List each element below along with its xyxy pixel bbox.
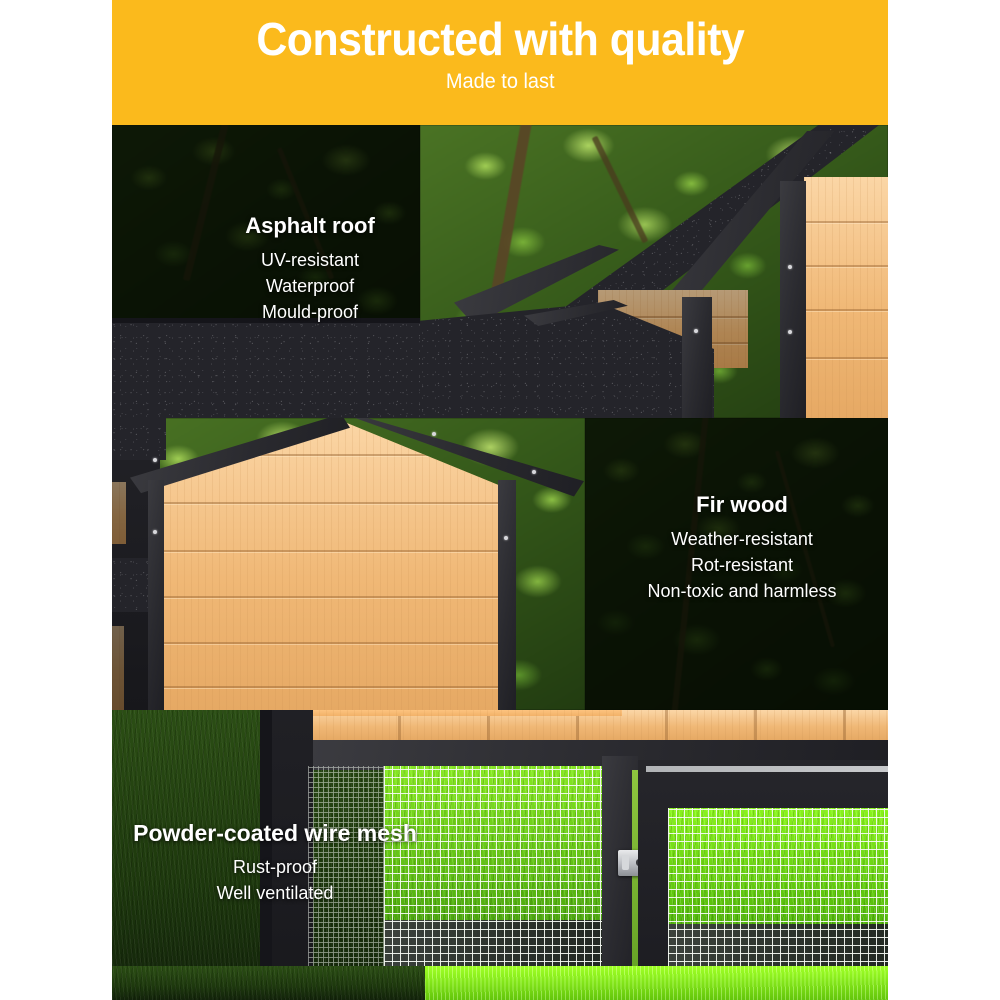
header-banner: Constructed with quality Made to last [112, 0, 888, 125]
callout-bullet: Rust-proof [120, 854, 430, 880]
support-post [682, 297, 712, 418]
feature-grid: Asphalt roof UV-resistant Waterproof Mou… [112, 125, 888, 1000]
page-subtitle: Made to last [446, 69, 555, 95]
wire-mesh-panel-door [668, 808, 888, 978]
screw-icon [432, 432, 436, 436]
callout-heading: Powder-coated wire mesh [120, 818, 430, 848]
page-title: Constructed with quality [256, 12, 744, 66]
foreground-grass-strip [425, 966, 888, 1000]
fir-wood-top-rail-cap [312, 710, 622, 716]
corner-post [780, 181, 806, 418]
callout-fir-wood: Fir wood Weather-resistant Rot-resistant… [608, 490, 876, 604]
feature-row-asphalt-roof: Asphalt roof UV-resistant Waterproof Mou… [112, 125, 888, 418]
callout-bullet: Mould-proof [200, 299, 420, 325]
screw-icon [788, 330, 792, 334]
screw-icon [153, 530, 157, 534]
callout-bullet: Non-toxic and harmless [608, 578, 876, 604]
screw-icon [504, 536, 508, 540]
asphalt-roof-photo-pane [420, 125, 888, 418]
fir-wood-photo-pane [112, 418, 585, 710]
corner-post-right [498, 480, 516, 710]
screw-icon [532, 470, 536, 474]
callout-wire-mesh: Powder-coated wire mesh Rust-proof Well … [120, 818, 430, 906]
corner-post-left [148, 480, 164, 710]
screw-icon [694, 329, 698, 333]
feature-row-fir-wood: Fir wood Weather-resistant Rot-resistant… [112, 418, 888, 710]
inner-wood-strip [112, 626, 124, 710]
screw-icon [788, 265, 792, 269]
door-top-highlight [646, 766, 888, 772]
infographic-page: Constructed with quality Made to last [0, 0, 1000, 1000]
callout-heading: Asphalt roof [200, 211, 420, 241]
foreground-grass-strip-dim [112, 966, 425, 1000]
callout-bullet: Well ventilated [120, 880, 430, 906]
callout-bullet: Weather-resistant [608, 526, 876, 552]
callout-bullet: UV-resistant [200, 247, 420, 273]
callout-bullet: Waterproof [200, 273, 420, 299]
fir-wood-wall [804, 177, 888, 418]
asphalt-surface [112, 321, 420, 418]
screw-icon [153, 458, 157, 462]
callout-bullet: Rot-resistant [608, 552, 876, 578]
feature-row-wire-mesh: Powder-coated wire mesh Rust-proof Well … [112, 710, 888, 1000]
callout-asphalt-roof: Asphalt roof UV-resistant Waterproof Mou… [200, 211, 420, 325]
inner-wood-strip [112, 482, 126, 544]
callout-heading: Fir wood [608, 490, 876, 520]
asphalt-roof-edge [112, 418, 166, 460]
